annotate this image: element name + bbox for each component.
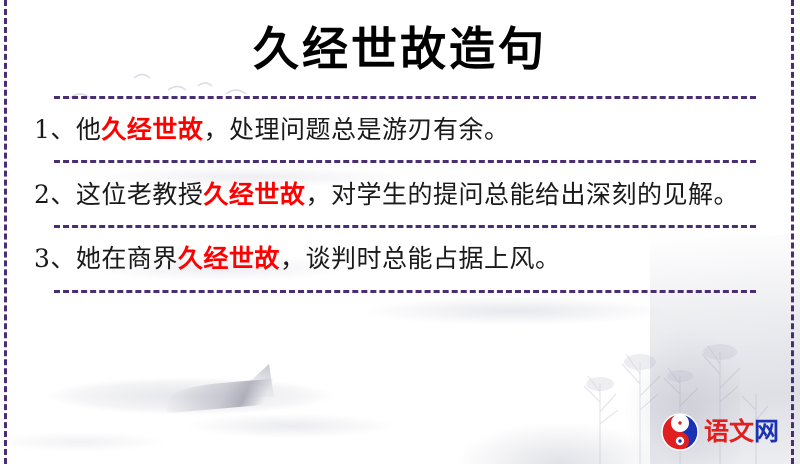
- page-title: 久经世故造句: [18, 0, 782, 76]
- brand-text-blue: 网: [754, 417, 779, 446]
- yin-yang-fish-icon: [660, 412, 700, 452]
- site-brand-text: 语文网: [704, 418, 779, 446]
- sentence-number-3: 3、: [34, 244, 76, 273]
- frame-right-dashed-border: [791, 0, 794, 464]
- sentence-item-3: 3、她在商界久经世故，谈判时总能占据上风。: [18, 228, 782, 290]
- brand-text-red: 语文: [704, 417, 754, 446]
- idiom-highlight-3: 久经世故: [178, 244, 280, 273]
- idiom-highlight-1: 久经世故: [101, 115, 203, 144]
- frame-left-dashed-border: [4, 0, 7, 464]
- content-area: 久经世故造句 1、他久经世故，处理问题总是游刃有余。 2、这位老教授久经世故，对…: [0, 0, 800, 464]
- sentence-text-before-2: 这位老教授: [76, 180, 204, 209]
- sentence-number-1: 1、: [34, 115, 76, 144]
- sentence-item-1: 1、他久经世故，处理问题总是游刃有余。: [18, 99, 782, 160]
- sentence-text-before-3: 她在商界: [76, 244, 178, 273]
- sentence-text-after-3: ，谈判时总能占据上风。: [280, 244, 561, 273]
- idiom-highlight-2: 久经世故: [203, 180, 305, 209]
- site-watermark-logo: 语文网: [660, 412, 779, 452]
- sentence-item-2: 2、这位老教授久经世故，对学生的提问总能给出深刻的见解。: [18, 163, 782, 225]
- sentence-text-before-1: 他: [76, 115, 102, 144]
- sentence-text-after-1: ，处理问题总是游刃有余。: [203, 115, 509, 144]
- page-root: 久经世故造句 1、他久经世故，处理问题总是游刃有余。 2、这位老教授久经世故，对…: [0, 0, 800, 464]
- sentence-number-2: 2、: [34, 180, 76, 209]
- divider-bottom: [54, 290, 756, 293]
- sentence-text-after-2: ，对学生的提问总能给出深刻的见解。: [305, 180, 739, 209]
